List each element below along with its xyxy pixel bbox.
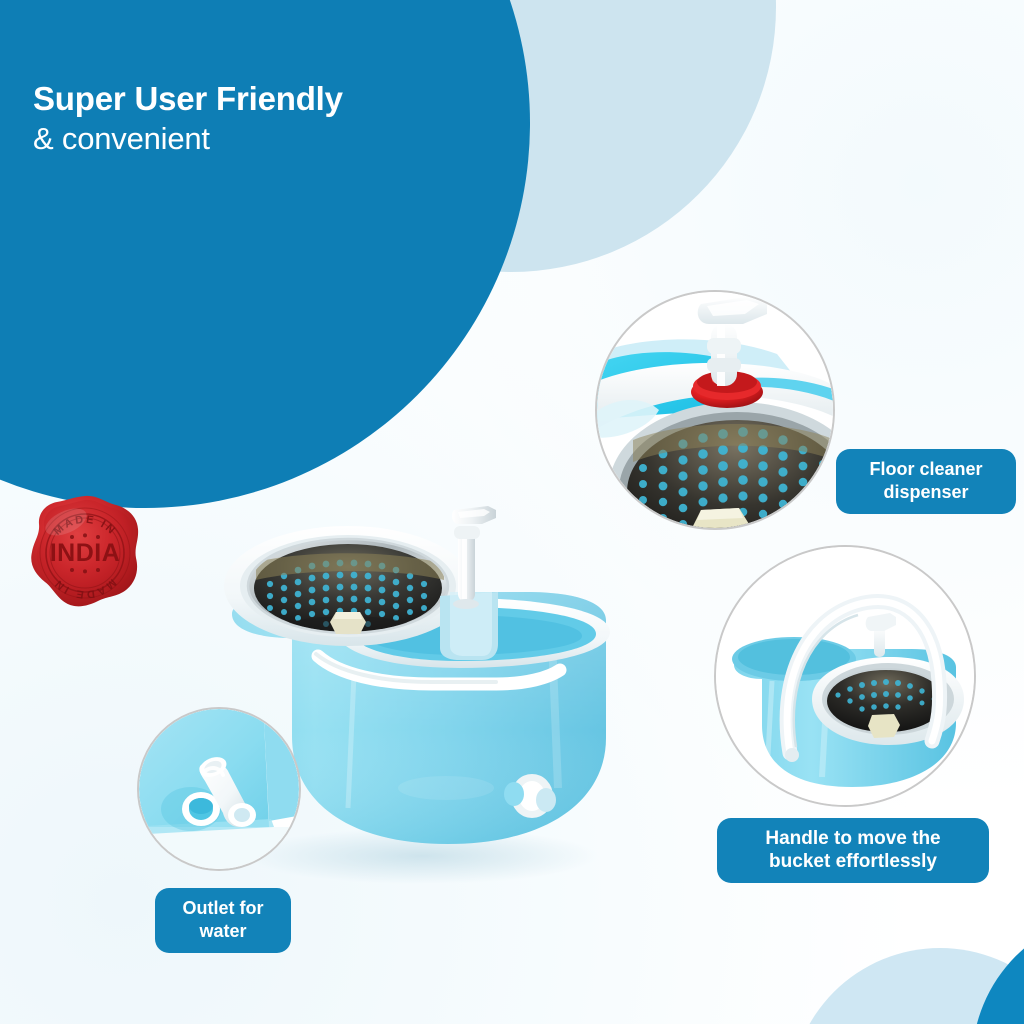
seal-center-text: INDIA [50,539,121,567]
callout-label-handle-line2: bucket effortlessly [727,850,979,873]
callout-label-dispenser-line2: dispenser [846,481,1006,504]
callout-label-dispenser-line1: Floor cleaner [846,458,1006,481]
header-text-block: Super User Friendly & convenient [33,80,343,158]
callout-inset-handle [714,545,976,807]
marketing-image-canvas: Super User Friendly & convenient [0,0,1024,1024]
made-in-india-seal-icon: MADE IN MADE IN INDIA [24,492,146,617]
callout-label-handle-line1: Handle to move the [727,827,979,850]
callout-label-dispenser: Floor cleaner dispenser [836,449,1016,514]
callout-label-outlet-line2: water [165,920,281,943]
callout-label-outlet: Outlet for water [155,888,291,953]
page-title: Super User Friendly [33,80,343,118]
callout-inset-dispenser [595,290,835,530]
page-subtitle: & convenient [33,120,343,158]
callout-inset-outlet [137,707,301,871]
callout-label-handle: Handle to move the bucket effortlessly [717,818,989,883]
callout-label-outlet-line1: Outlet for [165,897,281,920]
